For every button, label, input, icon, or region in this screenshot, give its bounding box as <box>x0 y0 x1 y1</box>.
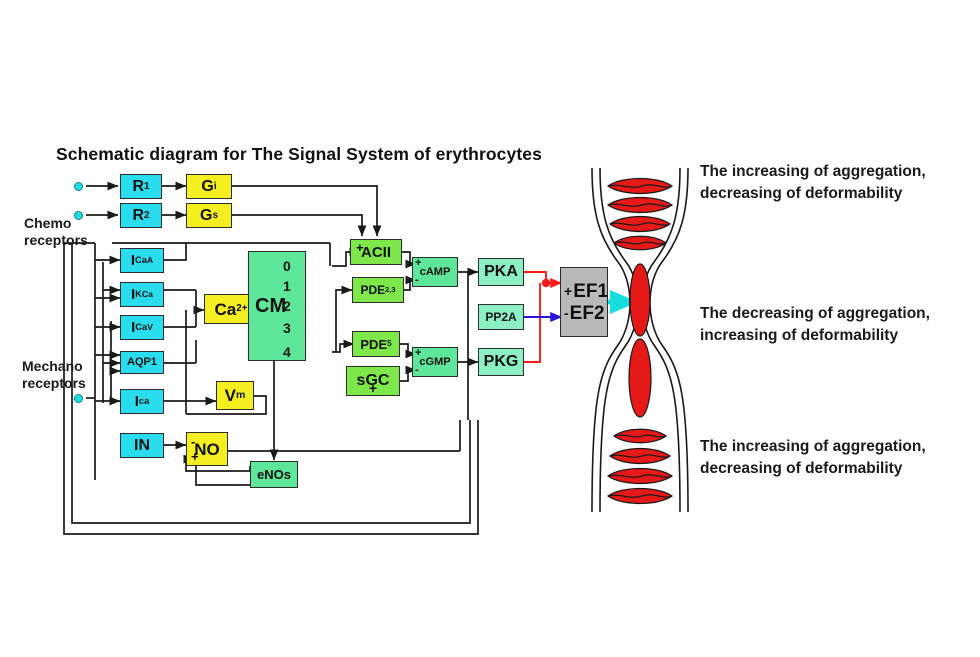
deformed-erythrocytes <box>629 264 651 417</box>
node-sgc[interactable]: sGC + <box>346 366 400 396</box>
node-r1-sub: 1 <box>144 182 150 192</box>
node-cm-port-3: 3 <box>283 320 303 336</box>
node-pde23-sub: 2,3 <box>385 286 395 293</box>
annotation-top-line2: decreasing of deformability <box>700 184 902 205</box>
node-enos-label: eNOs <box>257 468 291 481</box>
node-ca2plus-sup: 2+ <box>236 304 247 314</box>
node-gi-label: G <box>201 179 213 195</box>
node-cm-label: CM <box>255 296 286 316</box>
node-pp2a[interactable]: PP2A <box>478 304 524 330</box>
node-cm-port-2: 2 <box>283 298 303 314</box>
node-r2-label: R <box>132 208 144 224</box>
node-effector[interactable]: + EF1 - EF2 <box>560 267 608 337</box>
node-i-ca-a[interactable]: ICaA <box>120 248 164 273</box>
node-pkg[interactable]: PKG <box>478 348 524 376</box>
node-gs-label: G <box>200 208 212 224</box>
node-camp-sign-top: + <box>415 258 421 269</box>
node-i-ca-v[interactable]: ICaV <box>120 315 164 340</box>
node-cgmp-sign-bottom: - <box>415 365 419 376</box>
mechano-receptors-label-line1: Mechano <box>22 358 83 374</box>
diagram-canvas: Schematic diagram for The Signal System … <box>0 0 980 657</box>
node-cm-port-4: 4 <box>283 344 303 360</box>
node-pp2a-label: PP2A <box>485 311 516 323</box>
node-cgmp-sign-top: + <box>415 348 421 359</box>
annotation-top-line1: The increasing of aggregation, <box>700 162 926 183</box>
mechano-receptor-port[interactable] <box>74 394 83 403</box>
node-pde23-label: PDE <box>360 284 385 296</box>
node-aqp1-label: AQP1 <box>127 357 157 368</box>
node-cm-port-1: 1 <box>283 278 303 294</box>
node-i-ca-a-sup: A <box>147 256 153 265</box>
node-pkg-label: PKG <box>484 354 519 370</box>
rouleaux-bottom <box>608 429 672 503</box>
node-r1-label: R <box>132 179 144 195</box>
node-r2[interactable]: R2 <box>120 203 162 228</box>
chemo-receptor-port-1[interactable] <box>74 182 83 191</box>
node-camp-label: cAMP <box>420 267 451 278</box>
node-no[interactable]: - NO + <box>186 432 228 466</box>
node-i-ca-v-sub: Ca <box>135 323 147 332</box>
node-acii-label: ACII <box>361 245 391 260</box>
node-gi-sub: i <box>214 182 217 192</box>
node-gs[interactable]: Gs <box>186 203 232 228</box>
node-i-ca-a-sub: Ca <box>135 256 147 265</box>
node-ef2-sign: - <box>564 306 569 320</box>
node-ca2plus-label: Ca <box>215 301 237 318</box>
node-sgc-sign-bottom: + <box>369 381 377 395</box>
node-pka[interactable]: PKA <box>478 258 524 286</box>
node-ef2-label: EF2 <box>570 304 605 323</box>
node-i-ca-sub: ca <box>139 397 149 406</box>
node-gs-sub: s <box>212 211 218 221</box>
node-in[interactable]: IN <box>120 433 164 458</box>
node-camp-sign-bottom: - <box>415 275 419 286</box>
node-acii[interactable]: + ACII <box>350 239 402 265</box>
node-vm[interactable]: Vm <box>216 381 254 410</box>
node-no-sign-bottom: + <box>191 450 199 463</box>
node-i-k-ca[interactable]: IKCa <box>120 282 164 307</box>
node-pde5-label: PDE <box>360 338 387 351</box>
node-pde5-sub: 5 <box>387 340 391 348</box>
node-ef1-sign: + <box>564 284 572 298</box>
node-pka-label: PKA <box>484 264 518 280</box>
node-no-sign-top: - <box>191 435 195 448</box>
node-pde23[interactable]: PDE2,3 <box>352 277 404 303</box>
node-pde5[interactable]: PDE5 <box>352 331 400 357</box>
node-i-ca[interactable]: Ica <box>120 389 164 414</box>
annotation-bottom-line2: decreasing of deformability <box>700 459 902 480</box>
annotation-middle-line1: The decreasing of aggregation, <box>700 304 930 325</box>
node-i-k-ca-sup: Ca <box>142 290 153 299</box>
node-acii-sign-top: + <box>356 241 364 254</box>
node-vm-label: V <box>225 387 236 404</box>
node-in-label: IN <box>134 438 150 454</box>
node-cgmp-label: cGMP <box>419 357 450 368</box>
node-cm-port-0: 0 <box>283 258 303 274</box>
node-r2-sub: 2 <box>144 211 150 221</box>
chemo-receptors-label-line1: Chemo <box>24 215 71 231</box>
node-enos[interactable]: eNOs <box>250 461 298 488</box>
node-i-ca-v-sup: V <box>147 323 153 332</box>
node-ef1-label: EF1 <box>573 282 608 301</box>
node-aqp1[interactable]: AQP1 <box>120 351 164 374</box>
node-i-k-ca-sub: K <box>135 290 142 299</box>
annotation-middle-line2: increasing of deformability <box>700 326 898 347</box>
node-gi[interactable]: Gi <box>186 174 232 199</box>
node-r1[interactable]: R1 <box>120 174 162 199</box>
page-title: Schematic diagram for The Signal System … <box>56 144 542 165</box>
rouleaux-top <box>608 179 672 250</box>
node-camp[interactable]: + cAMP - <box>412 257 458 287</box>
annotation-bottom-line1: The increasing of aggregation, <box>700 437 926 458</box>
node-vm-sub: m <box>236 390 245 401</box>
node-cgmp[interactable]: + cGMP - <box>412 347 458 377</box>
chemo-receptor-port-2[interactable] <box>74 211 83 220</box>
mechano-receptors-label-line2: receptors <box>22 375 86 391</box>
chemo-receptors-label-line2: receptors <box>24 232 88 248</box>
